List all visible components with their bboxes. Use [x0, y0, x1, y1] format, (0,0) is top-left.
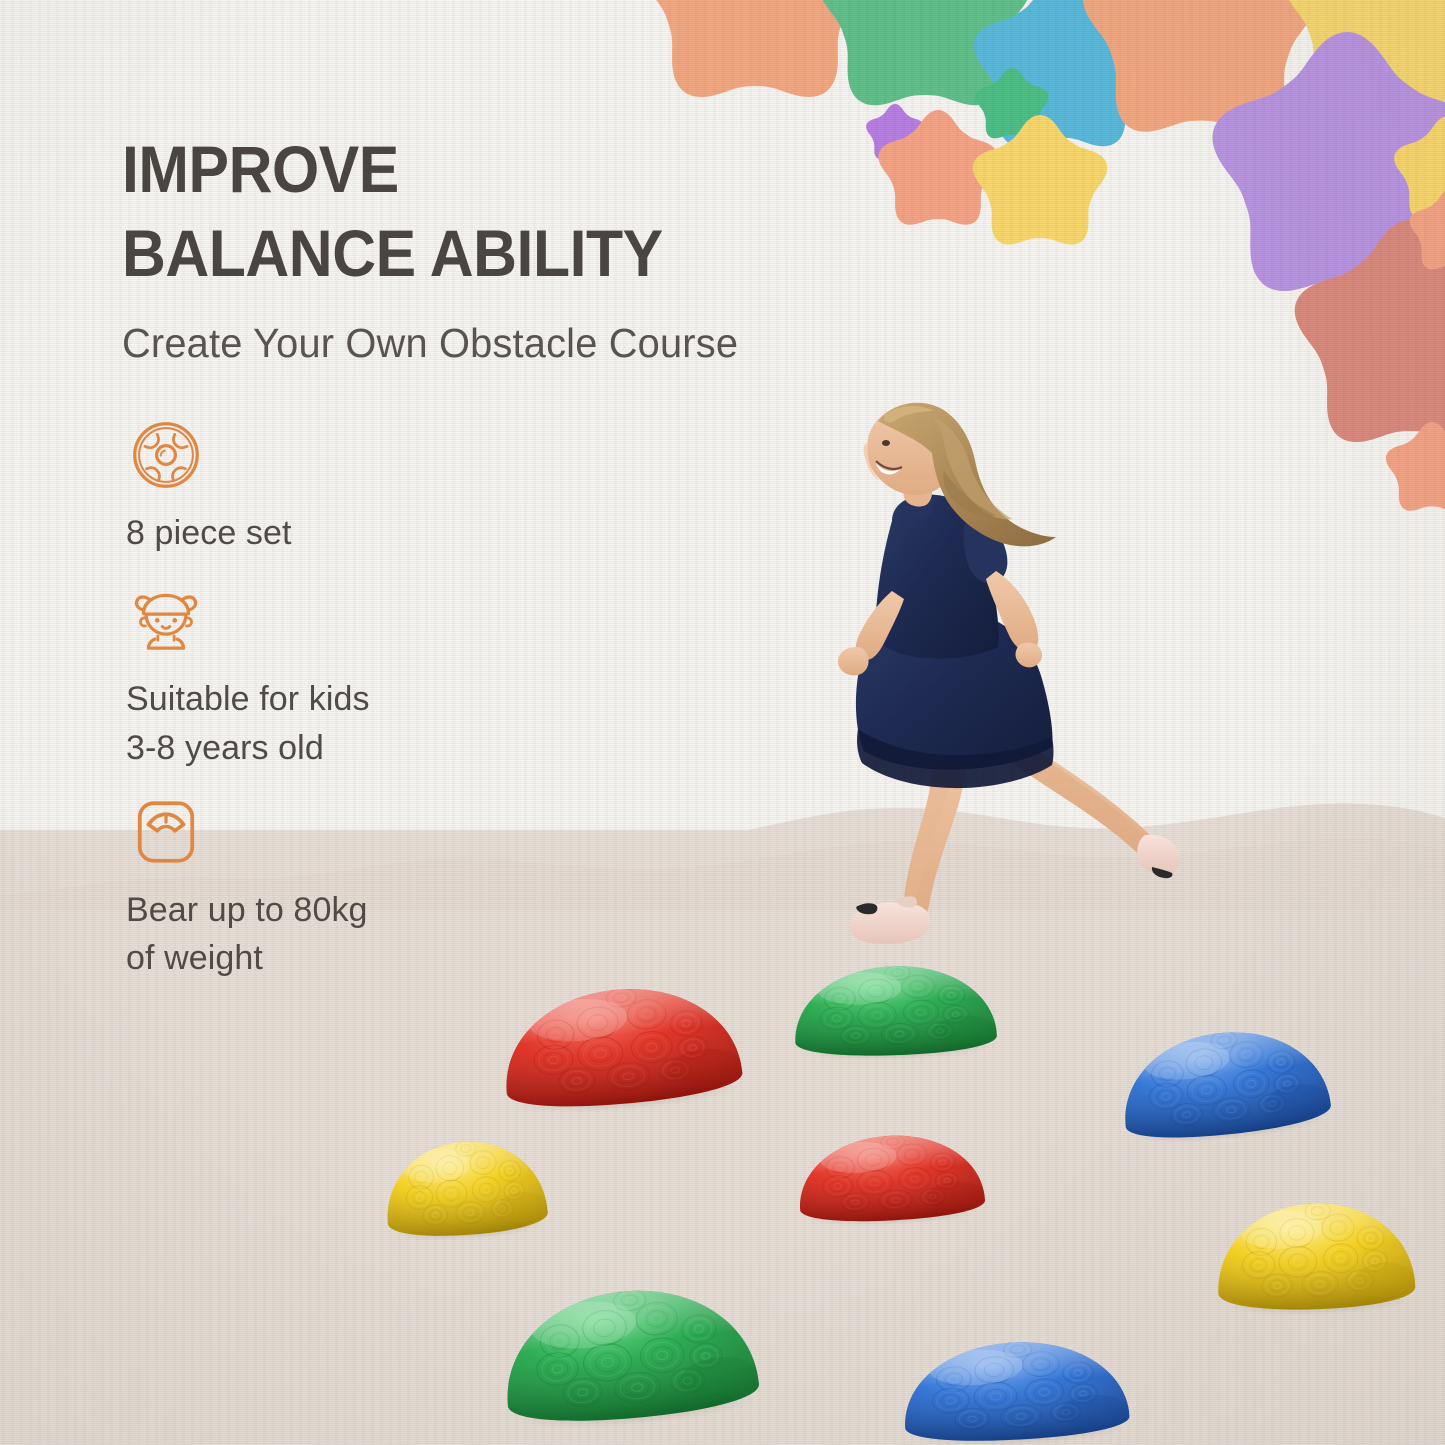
- stone-yellow-right: [1206, 1186, 1425, 1318]
- stone-green-upper: [783, 951, 1007, 1064]
- stone-red-center: [788, 1120, 995, 1230]
- stone-green-bottom: [486, 1263, 773, 1436]
- stone-blue-right: [1106, 1009, 1342, 1152]
- product-poster: IMPROVE BALANCE ABILITY Create Your Own …: [0, 0, 1445, 1445]
- stone-red-upper-left: [487, 964, 756, 1121]
- stone-yellow-left: [374, 1124, 556, 1246]
- stone-blue-bottom: [890, 1324, 1141, 1445]
- stepping-stones-group: [0, 0, 1445, 1445]
